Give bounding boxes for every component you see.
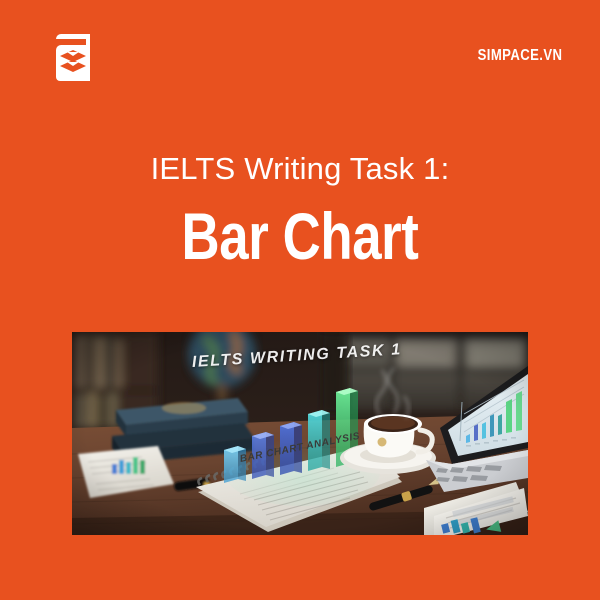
title-block: IELTS Writing Task 1: Bar Chart xyxy=(0,152,600,271)
title-kicker: IELTS Writing Task 1: xyxy=(0,152,600,186)
book-layers-logo-icon[interactable] xyxy=(50,33,96,85)
page-title: Bar Chart xyxy=(60,202,540,271)
brand-name: SIMPACE.VN xyxy=(477,47,562,65)
hero-image: IELTS WRITING TASK 1 BAR CHART ANALYSIS xyxy=(72,332,528,535)
social-card: SIMPACE.VN IELTS Writing Task 1: Bar Cha… xyxy=(0,0,600,600)
